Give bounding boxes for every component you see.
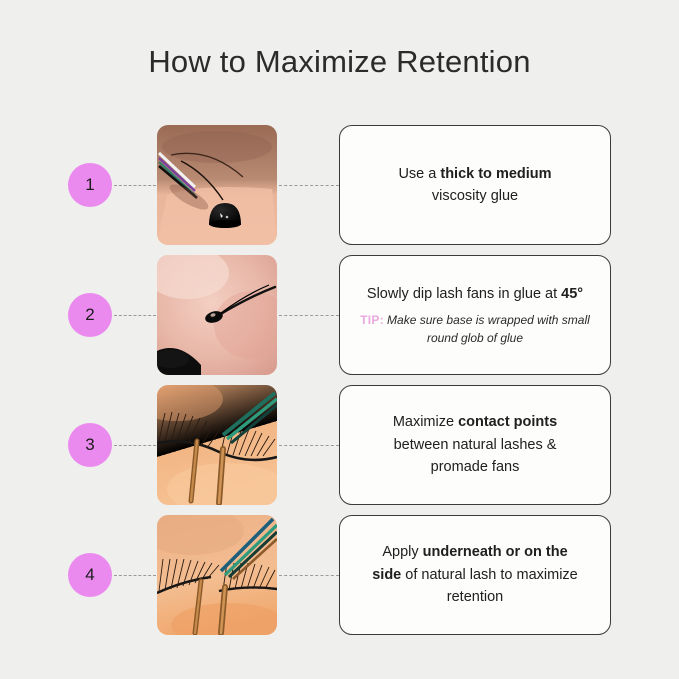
step-row: 4: [0, 515, 679, 635]
step-number-badge: 3: [68, 423, 112, 467]
step-number-badge: 2: [68, 293, 112, 337]
connector-image-to-card: [279, 445, 339, 446]
step-card: Use a thick to medium viscosity glue: [339, 125, 611, 245]
step-card: Maximize contact points between natural …: [339, 385, 611, 505]
page-title: How to Maximize Retention: [0, 44, 679, 80]
step-image-4: [157, 515, 277, 635]
step-number-badge: 1: [68, 163, 112, 207]
step-row: 2: [0, 255, 679, 375]
connector-badge-to-image: [114, 445, 156, 446]
card-text-line: viscosity glue: [432, 185, 518, 207]
card-text-line: Slowly dip lash fans in glue at 45°: [367, 283, 583, 305]
step-image-3: [157, 385, 277, 505]
steps-list: 1: [0, 125, 679, 645]
step-image-2: [157, 255, 277, 375]
connector-badge-to-image: [114, 575, 156, 576]
card-text-line: Use a thick to medium: [398, 163, 551, 185]
card-text-line: Maximize contact points: [393, 411, 557, 433]
card-text-line: promade fans: [431, 456, 520, 478]
step-card: Apply underneath or on the side of natur…: [339, 515, 611, 635]
tip-label: TIP:: [360, 313, 384, 327]
card-text-line: Apply underneath or on the: [382, 541, 567, 563]
step-row: 3: [0, 385, 679, 505]
connector-badge-to-image: [114, 185, 156, 186]
step-image-1: [157, 125, 277, 245]
connector-image-to-card: [279, 575, 339, 576]
card-text-line: between natural lashes &: [394, 434, 557, 456]
connector-image-to-card: [279, 315, 339, 316]
tip-text: Make sure base is wrapped with small rou…: [387, 313, 590, 344]
card-text-line: retention: [447, 586, 503, 608]
connector-image-to-card: [279, 185, 339, 186]
connector-badge-to-image: [114, 315, 156, 316]
step-card: Slowly dip lash fans in glue at 45° TIP:…: [339, 255, 611, 375]
tip-block: TIP:Make sure base is wrapped with small…: [354, 312, 596, 347]
step-number-badge: 4: [68, 553, 112, 597]
step-row: 1: [0, 125, 679, 245]
card-text-line: side of natural lash to maximize: [372, 564, 578, 586]
